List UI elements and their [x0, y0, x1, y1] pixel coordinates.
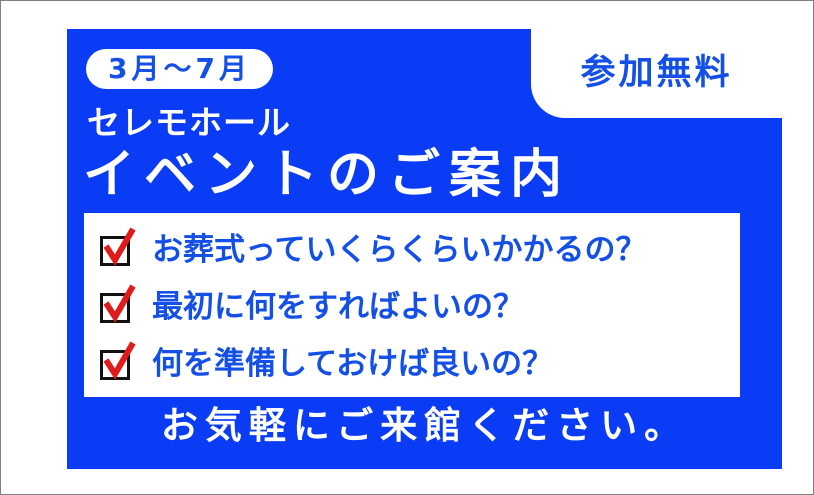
list-item-label: 何を準備しておけば良いの？ [152, 349, 553, 380]
event-poster: 参加無料 3月〜7月 セレモホール イベントのご案内 お葬式っていくらくらいかか… [0, 0, 814, 495]
hall-name: セレモホール [87, 104, 291, 142]
date-range-label: 3月〜7月 [108, 55, 251, 83]
check-mark-icon [99, 224, 139, 268]
checked-checkbox-icon [100, 234, 134, 268]
check-mark-icon [99, 281, 139, 325]
list-item: 最初に何をすればよいの？ [84, 279, 740, 336]
check-mark-icon [99, 338, 139, 382]
checked-checkbox-icon [100, 291, 134, 325]
free-admission-label: 参加無料 [580, 56, 732, 91]
list-item: お葬式っていくらくらいかかるの？ [84, 222, 740, 279]
checklist-card: お葬式っていくらくらいかかるの？ 最初に何をすればよいの？ 何を準備しておけば良… [84, 213, 740, 397]
list-item: 何を準備しておけば良いの？ [84, 336, 740, 393]
free-admission-badge: 参加無料 [531, 29, 782, 118]
page-title: イベントのご案内 [83, 146, 571, 206]
date-range-badge: 3月〜7月 [86, 49, 273, 89]
checked-checkbox-icon [100, 348, 134, 382]
footer-invitation-text: お気軽にご来館ください。 [67, 406, 782, 447]
list-item-label: 最初に何をすればよいの？ [152, 292, 524, 323]
list-item-label: お葬式っていくらくらいかかるの？ [152, 235, 646, 266]
